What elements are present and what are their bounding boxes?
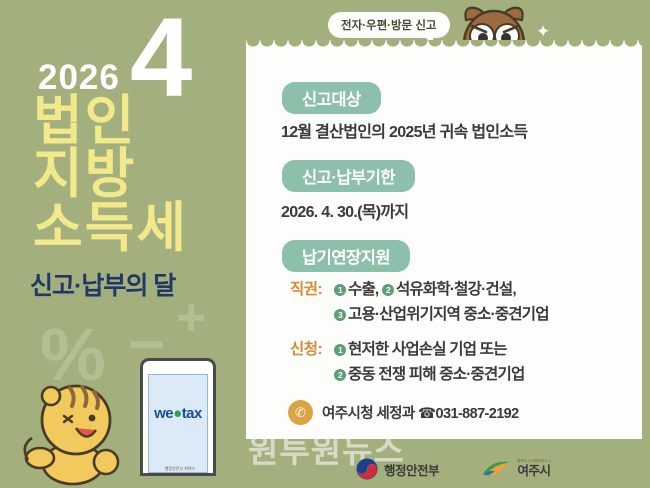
extension-text-authority-2: 3고용·산업위기지역 중소·중견기업 xyxy=(334,302,640,324)
bullet-number: 1 xyxy=(334,284,346,296)
section-body-report-target: 12월 결산법인의 2025년 귀속 법인소득 xyxy=(281,118,527,142)
title-line-3: 소득세 xyxy=(33,202,223,255)
taegeuk-icon xyxy=(356,458,378,480)
phone-caption: 행정안전부 위택스 xyxy=(132,466,228,472)
footer-logos: 행정안전부 행복도시 여행문화도시 여주시 xyxy=(356,458,551,480)
logo-mois-label: 행정안전부 xyxy=(384,460,439,479)
page-title: 법인 지방 소득세 xyxy=(33,95,223,255)
extension-label-authority: 직권: xyxy=(290,277,334,299)
extension-text-application-2: 2중동 전쟁 피해 중소·중견기업 xyxy=(334,362,640,384)
phone-screen xyxy=(148,374,208,473)
contact-text: 여주시청 세정과 ☎031-887-2192 xyxy=(322,402,519,423)
extension-text-authority-1: 1수출, 2석유화학·철강·건설, xyxy=(334,277,516,299)
yeoju-swoosh-icon xyxy=(481,460,511,478)
title-line-2: 지방 xyxy=(33,148,223,201)
wetax-phone-graphic: we●tax xyxy=(140,358,216,476)
contact-block: ✆ 여주시청 세정과 ☎031-887-2192 xyxy=(288,400,519,425)
section-chip-deadline: 신고·납부기한 xyxy=(282,160,415,192)
extension-text-application-1: 1현저한 사업손실 기업 또는 xyxy=(334,337,507,359)
logo-yeoju: 행복도시 여행문화도시 여주시 xyxy=(481,460,551,478)
section-body-deadline: 2026. 4. 30.(목)까지 xyxy=(281,198,408,222)
bullet-number: 2 xyxy=(382,284,394,296)
section-chip-extension: 납기연장지원 xyxy=(282,240,410,272)
extension-row-authority: 직권: 1수출, 2석유화학·철강·건설, xyxy=(290,277,640,299)
extension-row-application: 신청: 1현저한 사업손실 기업 또는 xyxy=(290,337,640,359)
title-line-1: 법인 xyxy=(33,95,223,148)
section-chip-report-target: 신고대상 xyxy=(282,82,381,114)
contact-phone: 031-887-2192 xyxy=(436,406,519,422)
bullet-number: 3 xyxy=(334,309,346,321)
logo-mois: 행정안전부 xyxy=(356,458,439,480)
bullet-number: 1 xyxy=(334,344,346,356)
sparkle-icon: ✦ xyxy=(536,22,550,42)
chipmunk-mascot-icon xyxy=(18,372,146,488)
speech-bubble: 전자·우편·방문 신고 xyxy=(328,12,450,38)
telephone-icon: ☎ xyxy=(418,406,435,422)
extension-list: 직권: 1수출, 2석유화학·철강·건설, 3고용·산업위기지역 중소·중견기업… xyxy=(290,277,640,384)
card-scallop-edge xyxy=(246,40,642,49)
logo-yeoju-text: 행복도시 여행문화도시 여주시 xyxy=(517,460,551,477)
extension-label-application: 신청: xyxy=(290,337,334,359)
plus-decoration-icon: + xyxy=(176,292,206,344)
page-subtitle: 신고·납부의 달 xyxy=(30,266,175,302)
poster-root: % − + 2026 4 법인 지방 소득세 신고·납부의 달 we●tax 행… xyxy=(0,0,650,488)
wetax-logo: we●tax xyxy=(143,405,213,422)
bullet-number: 2 xyxy=(334,369,346,381)
logo-yeoju-label: 여주시 xyxy=(518,465,551,478)
phone-call-icon: ✆ xyxy=(288,400,313,425)
